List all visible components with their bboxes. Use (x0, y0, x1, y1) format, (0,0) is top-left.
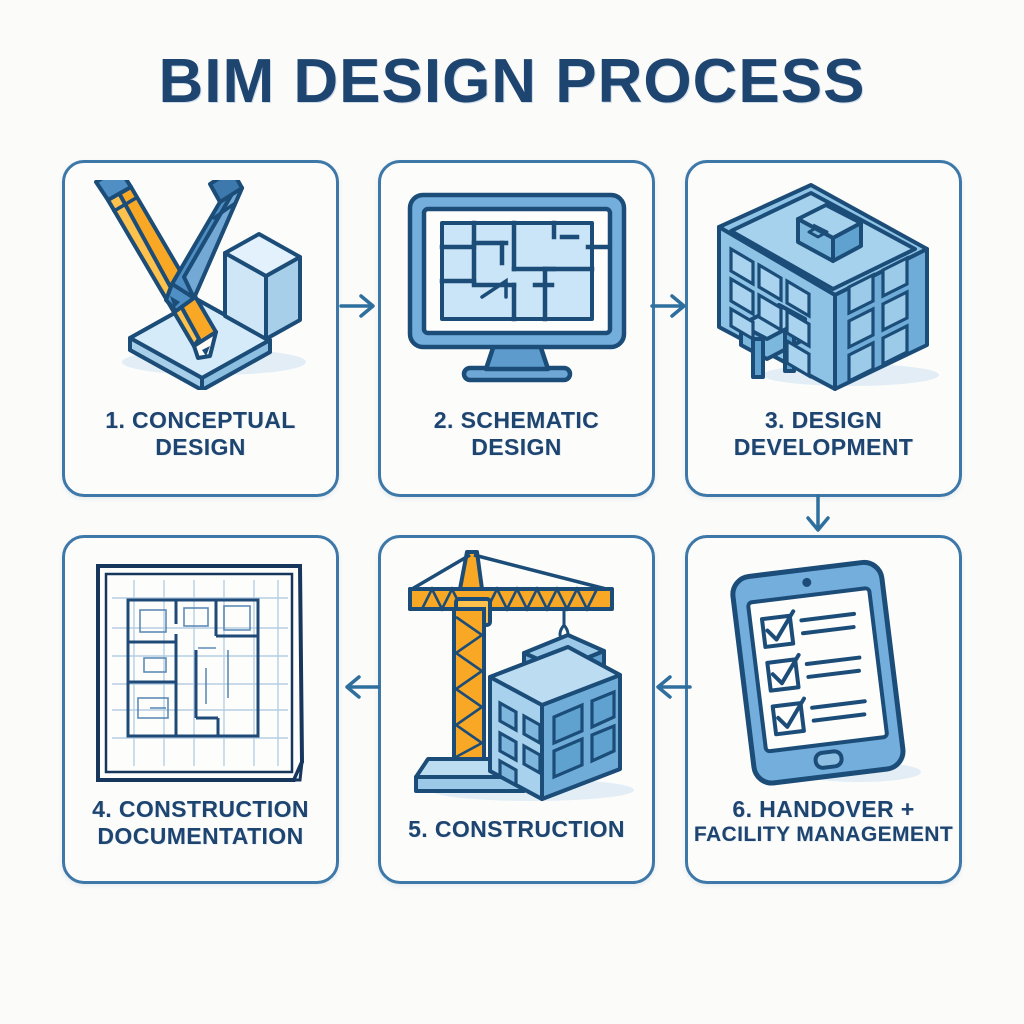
page-title: BIM DESIGN PROCESS (0, 46, 1024, 117)
step-card-5-label: 5. CONSTRUCTION (363, 816, 670, 843)
step-card-6[interactable]: 6. HANDOVER + FACILITY MANAGEMENT (685, 535, 962, 884)
arrow-step5-to-step4 (339, 671, 381, 703)
tower-crane-building-icon (381, 552, 652, 800)
step-2-label-line1: 2. SCHEMATIC (363, 407, 670, 434)
infographic-canvas: BIM DESIGN PROCESS (0, 0, 1024, 1024)
step-6-label-line2: FACILITY MANAGEMENT (670, 823, 977, 848)
arrow-step6-to-step5 (650, 671, 692, 703)
step-card-1[interactable]: 1. CONCEPTUAL DESIGN (62, 160, 339, 497)
step-6-label-line1: 6. HANDOVER + (670, 796, 977, 823)
step-card-4[interactable]: 4. CONSTRUCTION DOCUMENTATION (62, 535, 339, 884)
step-3-label-line1: 3. DESIGN (670, 407, 977, 434)
tablet-checklist-icon (688, 558, 959, 788)
step-2-label-line2: DESIGN (363, 434, 670, 461)
step-card-6-label: 6. HANDOVER + FACILITY MANAGEMENT (670, 796, 977, 848)
step-card-2[interactable]: 2. SCHEMATIC DESIGN (378, 160, 655, 497)
isometric-building-icon (688, 177, 959, 392)
step-card-3[interactable]: 3. DESIGN DEVELOPMENT (685, 160, 962, 497)
blueprint-sheet-icon (65, 560, 336, 785)
step-card-4-label: 4. CONSTRUCTION DOCUMENTATION (47, 796, 354, 850)
step-card-3-label: 3. DESIGN DEVELOPMENT (670, 407, 977, 461)
arrow-step3-to-step6 (802, 494, 834, 540)
pencils-3d-block-icon (65, 177, 336, 392)
monitor-floorplan-icon (381, 177, 652, 392)
step-4-label-line2: DOCUMENTATION (47, 823, 354, 850)
step-card-5[interactable]: 5. CONSTRUCTION (378, 535, 655, 884)
step-card-1-label: 1. CONCEPTUAL DESIGN (47, 407, 354, 461)
arrow-step1-to-step2 (339, 290, 381, 322)
arrow-step2-to-step3 (650, 290, 692, 322)
step-1-label-line1: 1. CONCEPTUAL (47, 407, 354, 434)
step-1-label-line2: DESIGN (47, 434, 354, 461)
step-5-label-line1: 5. CONSTRUCTION (363, 816, 670, 843)
step-3-label-line2: DEVELOPMENT (670, 434, 977, 461)
step-4-label-line1: 4. CONSTRUCTION (47, 796, 354, 823)
step-card-2-label: 2. SCHEMATIC DESIGN (363, 407, 670, 461)
